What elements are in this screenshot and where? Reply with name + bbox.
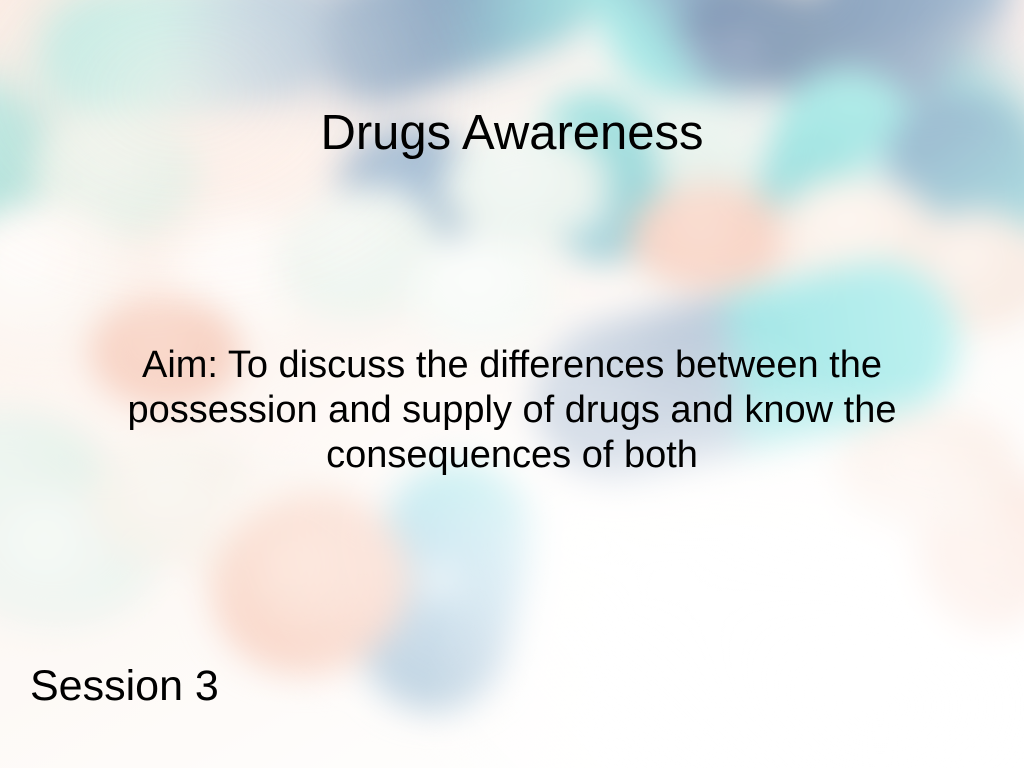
slide-title: Drugs Awareness — [0, 104, 1024, 162]
slide-text-layer: Drugs Awareness Aim: To discuss the diff… — [0, 0, 1024, 768]
slide-body-text: Aim: To discuss the differences between … — [46, 343, 978, 478]
slide-session-label: Session 3 — [30, 660, 219, 712]
presentation-slide: Drugs Awareness Aim: To discuss the diff… — [0, 0, 1024, 768]
